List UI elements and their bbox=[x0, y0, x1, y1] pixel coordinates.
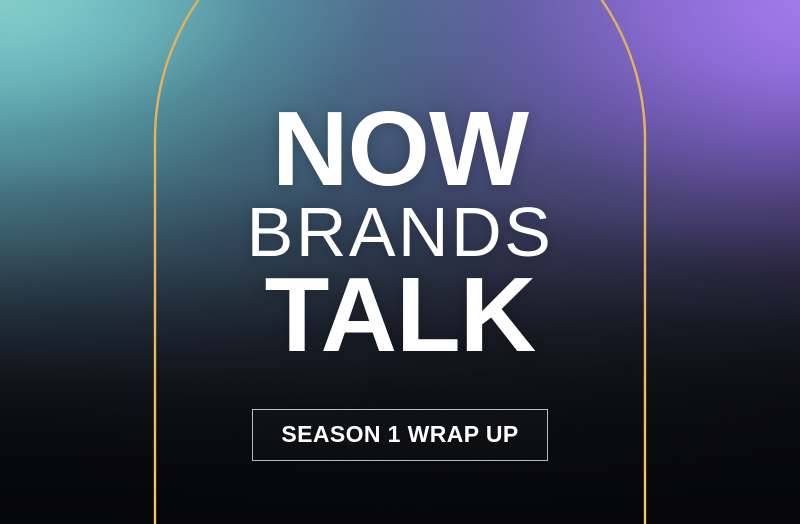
wordmark: NOW BRANDS TALK bbox=[247, 104, 554, 361]
wordmark-line-now: NOW bbox=[247, 104, 554, 195]
season-wrap-up-label: SEASON 1 WRAP UP bbox=[281, 421, 518, 448]
season-wrap-up-button[interactable]: SEASON 1 WRAP UP bbox=[252, 409, 548, 461]
poster-content: NOW BRANDS TALK SEASON 1 WRAP UP bbox=[0, 0, 800, 524]
promo-poster: NOW BRANDS TALK SEASON 1 WRAP UP bbox=[0, 0, 800, 524]
wordmark-line-talk: TALK bbox=[247, 270, 554, 361]
